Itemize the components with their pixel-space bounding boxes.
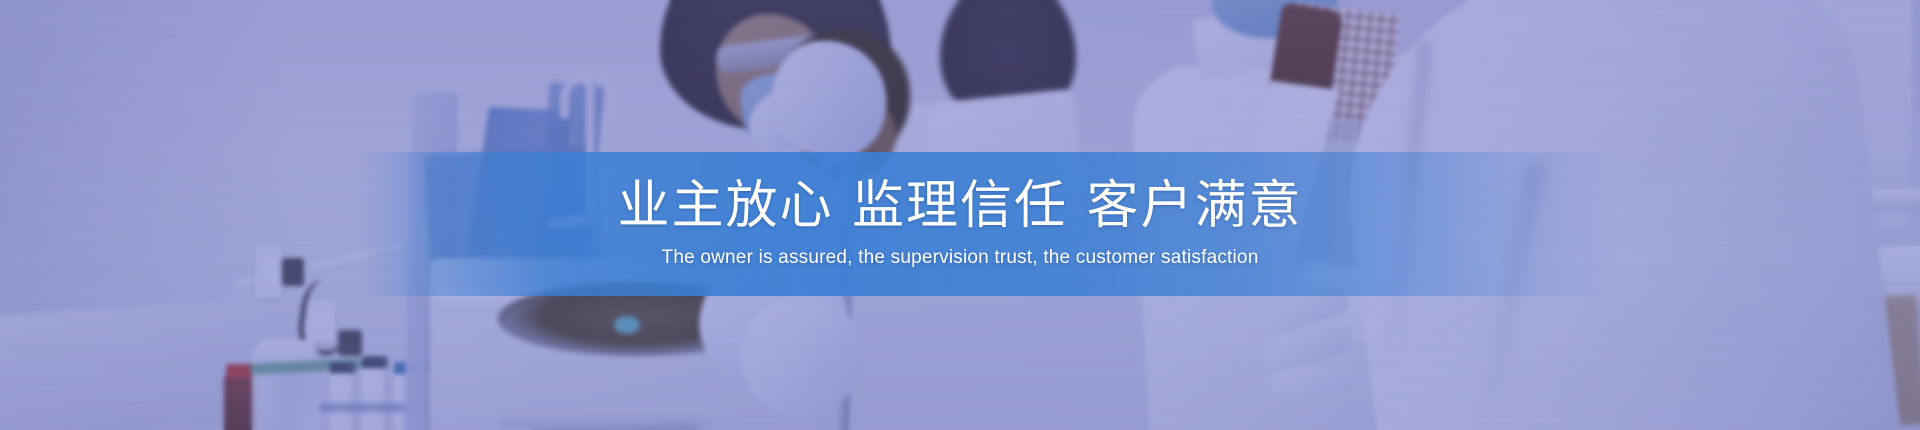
sample-vial [362,356,388,430]
sample-vial [330,362,356,430]
headline-band-content: 业主放心 监理信任 客户满意 The owner is assured, the… [0,152,1920,296]
banner-subline: The owner is assured, the supervision tr… [662,246,1259,271]
hero-banner: 业主放心 监理信任 客户满意 The owner is assured, the… [0,0,1920,430]
rotor-sample [614,316,640,334]
banner-headline: 业主放心 监理信任 客户满意 [617,178,1302,236]
